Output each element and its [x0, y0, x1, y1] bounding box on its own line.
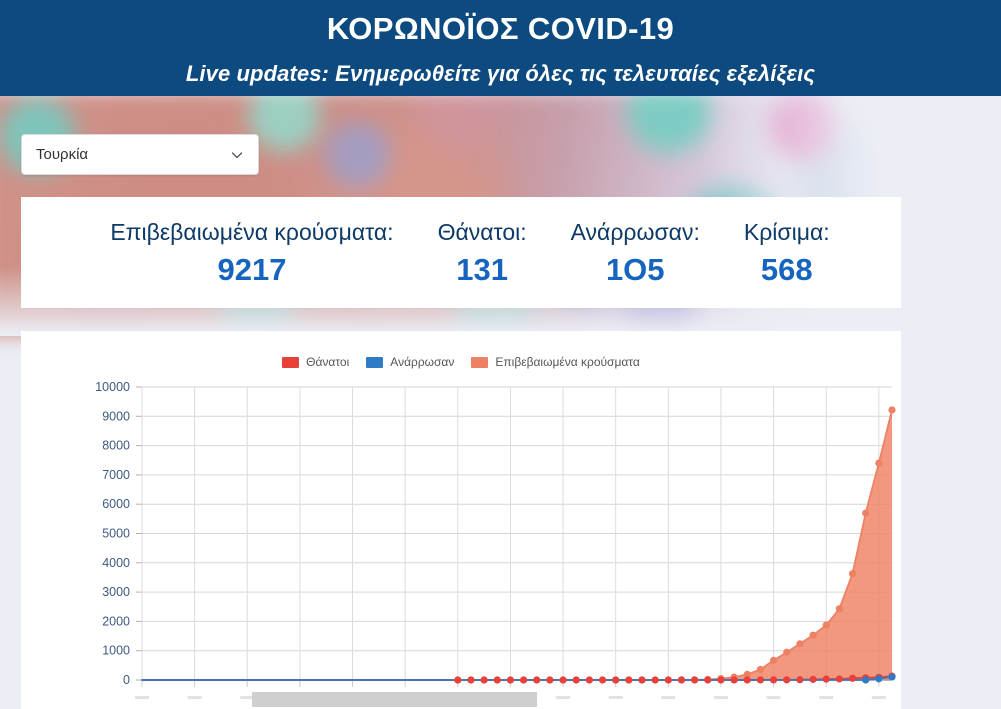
data-point[interactable]: [612, 676, 619, 683]
stat-deaths-label: Θάνατοι:: [438, 217, 527, 248]
data-point[interactable]: [533, 676, 540, 683]
stat-recovered: Ανάρρωσαν: 1Ο5: [549, 217, 722, 288]
data-point[interactable]: [836, 605, 843, 612]
x-axis-tick-label-clipped: [767, 696, 781, 699]
stat-deaths-value: 131: [438, 251, 527, 288]
data-point[interactable]: [507, 676, 514, 683]
data-point[interactable]: [559, 676, 566, 683]
stat-confirmed: Επιβεβαιωμένα κρούσματα: 9217: [88, 217, 415, 288]
data-point[interactable]: [665, 676, 672, 683]
data-point[interactable]: [783, 649, 790, 656]
data-point[interactable]: [625, 676, 632, 683]
chart-svg[interactable]: 1000090008000700060005000400030002000100…: [21, 377, 901, 709]
stat-recovered-value: 1Ο5: [571, 251, 700, 288]
chart-range-slider[interactable]: [252, 692, 537, 707]
stat-critical-value: 568: [744, 251, 830, 288]
legend-item-confirmed[interactable]: Επιβεβαιωμένα κρούσματα: [471, 355, 639, 369]
page-subtitle: Live updates: Ενημερωθείτε για όλες τις …: [0, 44, 1001, 85]
chart-legend: Θάνατοι Ανάρρωσαν Επιβεβαιωμένα κρούσματ…: [21, 331, 901, 369]
data-point[interactable]: [744, 676, 751, 683]
y-axis-tick-label: 10000: [95, 380, 130, 394]
chevron-down-icon: [230, 148, 244, 162]
data-point[interactable]: [757, 666, 764, 673]
data-point[interactable]: [704, 676, 711, 683]
country-select-value: Τουρκία: [36, 146, 230, 163]
legend-swatch-deaths: [282, 357, 299, 368]
legend-label-deaths: Θάνατοι: [306, 355, 349, 369]
data-point[interactable]: [757, 676, 764, 683]
data-point[interactable]: [875, 675, 882, 682]
legend-label-recovered: Ανάρρωσαν: [390, 355, 454, 369]
data-point[interactable]: [875, 460, 882, 467]
stat-confirmed-value: 9217: [110, 251, 393, 288]
y-axis-tick-label: 5000: [102, 527, 130, 541]
data-point[interactable]: [586, 676, 593, 683]
data-point[interactable]: [809, 632, 816, 639]
data-point[interactable]: [770, 676, 777, 683]
legend-item-recovered[interactable]: Ανάρρωσαν: [366, 355, 454, 369]
y-axis-tick-label: 0: [123, 673, 130, 687]
data-point[interactable]: [888, 406, 895, 413]
y-axis-tick-label: 6000: [102, 497, 130, 511]
data-point[interactable]: [520, 676, 527, 683]
data-point[interactable]: [599, 676, 606, 683]
y-axis-tick-label: 2000: [102, 614, 130, 628]
data-point[interactable]: [849, 675, 856, 682]
data-point[interactable]: [770, 657, 777, 664]
x-axis-tick-label-clipped: [661, 696, 675, 699]
data-point[interactable]: [849, 570, 856, 577]
page-title: ΚΟΡΩΝΟΪΟΣ COVID-19: [0, 0, 1001, 44]
legend-item-deaths[interactable]: Θάνατοι: [282, 355, 349, 369]
legend-label-confirmed: Επιβεβαιωμένα κρούσματα: [495, 355, 639, 369]
stat-confirmed-label: Επιβεβαιωμένα κρούσματα:: [110, 217, 393, 248]
stat-critical-label: Κρίσιμα:: [744, 217, 830, 248]
data-point[interactable]: [783, 676, 790, 683]
data-point[interactable]: [862, 676, 869, 683]
x-axis-tick-label-clipped: [556, 696, 570, 699]
data-point[interactable]: [731, 676, 738, 683]
chart-plot-area[interactable]: 1000090008000700060005000400030002000100…: [21, 377, 901, 709]
x-axis-tick-label-clipped: [714, 696, 728, 699]
data-point[interactable]: [717, 676, 724, 683]
chart-card: Θάνατοι Ανάρρωσαν Επιβεβαιωμένα κρούσματ…: [21, 331, 901, 709]
x-axis-tick-label-clipped: [188, 696, 202, 699]
data-point[interactable]: [823, 676, 830, 683]
data-point[interactable]: [823, 622, 830, 629]
data-point[interactable]: [573, 676, 580, 683]
data-point[interactable]: [481, 676, 488, 683]
y-axis-tick-label: 9000: [102, 409, 130, 423]
y-axis-tick-label: 4000: [102, 556, 130, 570]
data-point[interactable]: [638, 676, 645, 683]
country-select[interactable]: Τουρκία: [21, 134, 259, 175]
data-point[interactable]: [796, 640, 803, 647]
x-axis-tick-label-clipped: [819, 696, 833, 699]
data-point[interactable]: [862, 509, 869, 516]
series-line-0: [142, 410, 892, 680]
stat-critical: Κρίσιμα: 568: [722, 217, 852, 288]
page-header: ΚΟΡΩΝΟΪΟΣ COVID-19 Live updates: Ενημερω…: [0, 0, 1001, 96]
legend-swatch-confirmed: [471, 357, 488, 368]
series-area-0: [142, 410, 892, 680]
data-point[interactable]: [809, 676, 816, 683]
y-axis-tick-label: 7000: [102, 468, 130, 482]
x-axis-tick-label-clipped: [135, 696, 149, 699]
y-axis-tick-label: 3000: [102, 585, 130, 599]
legend-swatch-recovered: [366, 357, 383, 368]
x-axis-tick-label-clipped: [609, 696, 623, 699]
data-point[interactable]: [467, 676, 474, 683]
data-point[interactable]: [454, 676, 461, 683]
data-point[interactable]: [494, 676, 501, 683]
data-point[interactable]: [888, 673, 895, 680]
data-point[interactable]: [796, 676, 803, 683]
data-point[interactable]: [836, 675, 843, 682]
x-axis-tick-label-clipped: [872, 696, 886, 699]
data-point[interactable]: [691, 676, 698, 683]
stat-deaths: Θάνατοι: 131: [416, 217, 549, 288]
stat-recovered-label: Ανάρρωσαν:: [571, 217, 700, 248]
y-axis-tick-label: 1000: [102, 644, 130, 658]
y-axis-tick-label: 8000: [102, 439, 130, 453]
stats-card: Επιβεβαιωμένα κρούσματα: 9217 Θάνατοι: 1…: [21, 197, 901, 308]
data-point[interactable]: [678, 676, 685, 683]
data-point[interactable]: [546, 676, 553, 683]
data-point[interactable]: [652, 676, 659, 683]
stats-row: Επιβεβαιωμένα κρούσματα: 9217 Θάνατοι: 1…: [70, 217, 851, 288]
